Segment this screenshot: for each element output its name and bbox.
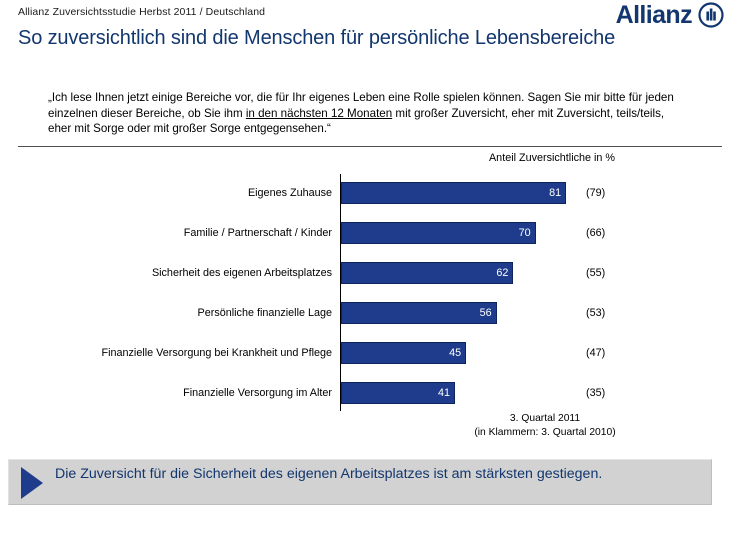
- chart-bar-row: Finanzielle Versorgung bei Krankheit und…: [0, 334, 740, 372]
- chart-bar-track: 45: [341, 342, 466, 364]
- chart-previous-value: (79): [586, 182, 605, 204]
- study-label: Allianz Zuversichtsstudie Herbst 2011 / …: [18, 6, 265, 18]
- chart-bar-row: Persönliche finanzielle Lage56(53): [0, 294, 740, 332]
- chart-bar-track: 41: [341, 382, 455, 404]
- chart-bar-value: 62: [341, 262, 513, 284]
- allianz-bars-circle-icon: [698, 2, 724, 28]
- chart-category-label: Eigenes Zuhause: [60, 174, 332, 212]
- page-title: So zuversichtlich sind die Menschen für …: [18, 27, 615, 50]
- slide-header: Allianz Zuversichtsstudie Herbst 2011 / …: [0, 0, 740, 66]
- source-note: 3. Quartal 2011 (in Klammern: 3. Quartal…: [400, 412, 690, 439]
- question-emphasis: in den nächsten 12 Monaten: [246, 107, 392, 120]
- chart-bar-track: 62: [341, 262, 513, 284]
- chart-bar-row: Familie / Partnerschaft / Kinder70(66): [0, 214, 740, 252]
- bar-chart: Anteil Zuversichtliche in % Eigenes Zuha…: [0, 152, 740, 452]
- header-divider: [18, 146, 722, 147]
- chart-category-label: Persönliche finanzielle Lage: [60, 294, 332, 332]
- chart-bar-value: 70: [341, 222, 536, 244]
- chart-bar-track: 56: [341, 302, 497, 324]
- chart-bar-value: 45: [341, 342, 466, 364]
- allianz-wordmark: Allianz: [616, 3, 692, 28]
- chart-bar-track: 70: [341, 222, 536, 244]
- chart-bar-track: 81: [341, 182, 566, 204]
- chart-bar-row: Finanzielle Versorgung im Alter41(35): [0, 374, 740, 412]
- chart-previous-value: (53): [586, 302, 605, 324]
- chart-bar-row: Eigenes Zuhause81(79): [0, 174, 740, 212]
- allianz-logo: Allianz: [616, 2, 724, 28]
- source-note-line-1: 3. Quartal 2011: [400, 412, 690, 426]
- chart-previous-value: (66): [586, 222, 605, 244]
- chart-previous-value: (47): [586, 342, 605, 364]
- right-triangle-icon: [21, 467, 43, 499]
- chart-previous-value: (35): [586, 382, 605, 404]
- chart-axis-caption: Anteil Zuversichtliche in %: [452, 152, 652, 164]
- chart-bar-value: 81: [341, 182, 566, 204]
- source-note-line-2: (in Klammern: 3. Quartal 2010): [400, 426, 690, 440]
- chart-category-label: Finanzielle Versorgung im Alter: [60, 374, 332, 412]
- chart-axis-line: [340, 174, 341, 411]
- question-quote: „Ich lese Ihnen jetzt einige Bereiche vo…: [48, 90, 678, 137]
- chart-bar-value: 56: [341, 302, 497, 324]
- chart-previous-value: (55): [586, 262, 605, 284]
- chart-category-label: Finanzielle Versorgung bei Krankheit und…: [60, 334, 332, 372]
- question-line-1: „Ich lese Ihnen jetzt einige Bereiche vo…: [48, 91, 600, 104]
- chart-category-label: Familie / Partnerschaft / Kinder: [60, 214, 332, 252]
- question-line-2-post: mit großer Zuversicht,: [392, 107, 508, 120]
- chart-bar-value: 41: [341, 382, 455, 404]
- chart-plot-area: Eigenes Zuhause81(79)Familie / Partnersc…: [0, 174, 740, 414]
- callout-box: Die Zuversicht für die Sicherheit des ei…: [8, 459, 712, 505]
- chart-category-label: Sicherheit des eigenen Arbeitsplatzes: [60, 254, 332, 292]
- chart-bar-row: Sicherheit des eigenen Arbeitsplatzes62(…: [0, 254, 740, 292]
- callout-text: Die Zuversicht für die Sicherheit des ei…: [55, 465, 685, 484]
